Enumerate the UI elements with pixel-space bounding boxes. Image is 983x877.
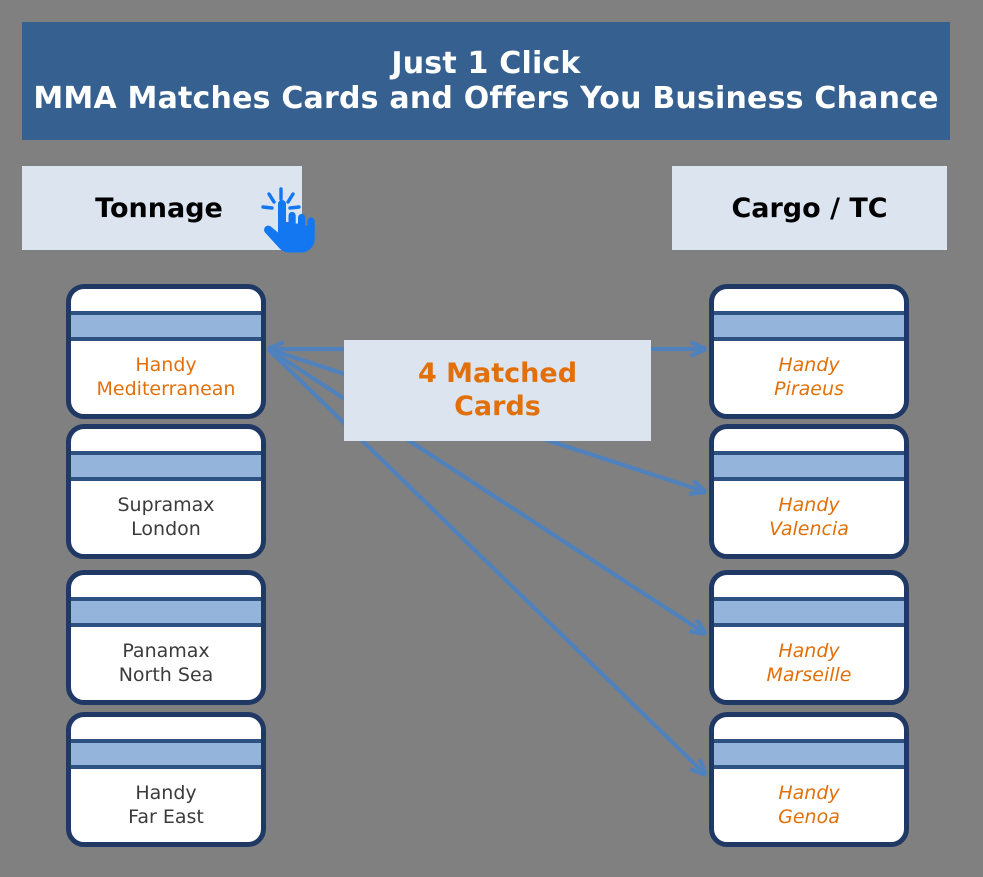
card-stripe (712, 597, 909, 627)
diagram-canvas: Just 1 Click MMA Matches Cards and Offer… (0, 0, 983, 877)
tonnage-card[interactable]: Handy Far East (66, 712, 266, 847)
column-header-cargo-tc-label: Cargo / TC (731, 193, 887, 224)
tonnage-card-label: Panamax North Sea (71, 631, 261, 696)
banner-line-1: Just 1 Click (391, 46, 580, 81)
matched-cards-label: 4 Matched Cards (418, 358, 577, 424)
banner-line-2: MMA Matches Cards and Offers You Busines… (33, 81, 938, 116)
card-stripe (712, 739, 909, 769)
column-header-tonnage-label: Tonnage (95, 193, 223, 224)
tonnage-card[interactable]: Handy Mediterranean (66, 284, 266, 419)
matched-cards-badge: 4 Matched Cards (344, 340, 651, 441)
card-stripe (69, 739, 266, 769)
cargo-card[interactable]: Handy Valencia (709, 424, 909, 559)
page-banner: Just 1 Click MMA Matches Cards and Offer… (22, 22, 950, 140)
tonnage-card[interactable]: Panamax North Sea (66, 570, 266, 705)
tonnage-card-label: Handy Mediterranean (71, 345, 261, 410)
cargo-card-label: Handy Marseille (714, 631, 904, 696)
card-stripe (69, 597, 266, 627)
cargo-card-label: Handy Piraeus (714, 345, 904, 410)
card-stripe (712, 451, 909, 481)
cargo-card-label: Handy Genoa (714, 773, 904, 838)
tonnage-card[interactable]: Supramax London (66, 424, 266, 559)
column-header-cargo-tc[interactable]: Cargo / TC (672, 166, 947, 250)
card-stripe (712, 311, 909, 341)
tonnage-card-label: Supramax London (71, 485, 261, 550)
cargo-card-label: Handy Valencia (714, 485, 904, 550)
cargo-card[interactable]: Handy Genoa (709, 712, 909, 847)
column-header-tonnage[interactable]: Tonnage (22, 166, 302, 250)
cargo-card[interactable]: Handy Marseille (709, 570, 909, 705)
card-stripe (69, 311, 266, 341)
tonnage-card-label: Handy Far East (71, 773, 261, 838)
cargo-card[interactable]: Handy Piraeus (709, 284, 909, 419)
card-stripe (69, 451, 266, 481)
